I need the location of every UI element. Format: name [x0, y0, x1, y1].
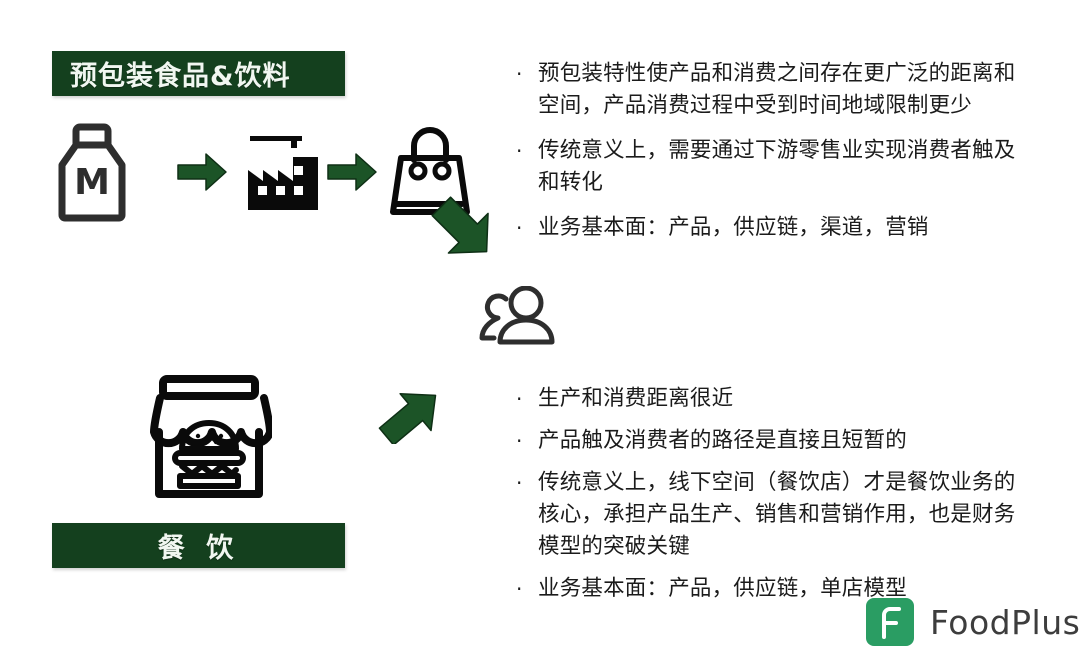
- bullet-dot: ·: [516, 467, 538, 499]
- bullet-text: 传统意义上，线下空间（餐饮店）才是餐饮业务的核心，承担产品生产、销售和营销作用，…: [538, 467, 1016, 563]
- foodplus-logo: FoodPlus: [866, 598, 1080, 646]
- slide-canvas: 预包装食品&饮料 M: [0, 0, 1080, 665]
- bullet-dot: ·: [516, 58, 538, 90]
- bullet-text: 预包装特性使产品和消费之间存在更广泛的距离和空间，产品消费过程中受到时间地域限制…: [538, 58, 1016, 122]
- list-item: · 预包装特性使产品和消费之间存在更广泛的距离和空间，产品消费过程中受到时间地域…: [516, 58, 1016, 122]
- list-item: · 业务基本面：产品，供应链，渠道，营销: [516, 212, 1016, 244]
- bullet-list-packaged: · 预包装特性使产品和消费之间存在更广泛的距离和空间，产品消费过程中受到时间地域…: [516, 58, 1016, 244]
- bullet-dot: ·: [516, 135, 538, 167]
- bullet-dot: ·: [516, 383, 538, 415]
- arrow-right-icon-2: [326, 152, 378, 192]
- list-item: · 生产和消费距离很近: [516, 383, 1016, 415]
- bullet-dot: ·: [516, 425, 538, 457]
- bullet-text: 传统意义上，需要通过下游零售业实现消费者触及和转化: [538, 135, 1016, 199]
- section-label-foodservice: 餐 饮: [52, 523, 345, 568]
- arrow-right-icon-1: [176, 152, 228, 192]
- bullet-dot: ·: [516, 212, 538, 244]
- section-label-packaged: 预包装食品&饮料: [52, 51, 345, 96]
- bullet-text: 生产和消费距离很近: [538, 383, 1016, 415]
- arrow-down-right-icon: [428, 196, 500, 262]
- svg-text:M: M: [74, 162, 110, 203]
- foodplus-logo-mark-icon: [866, 598, 914, 646]
- list-item: · 传统意义上，需要通过下游零售业实现消费者触及和转化: [516, 135, 1016, 199]
- list-item: · 传统意义上，线下空间（餐饮店）才是餐饮业务的核心，承担产品生产、销售和营销作…: [516, 467, 1016, 563]
- list-item: · 产品触及消费者的路径是直接且短暂的: [516, 425, 1016, 457]
- foodplus-wordmark: FoodPlus: [930, 606, 1080, 639]
- bullet-list-foodservice: · 生产和消费距离很近 · 产品触及消费者的路径是直接且短暂的 · 传统意义上，…: [516, 383, 1016, 605]
- bullet-text: 业务基本面：产品，供应链，渠道，营销: [538, 212, 1016, 244]
- section-label-packaged-text: 预包装食品&饮料: [70, 54, 291, 93]
- packaged-flow-row: M: [50, 122, 425, 222]
- restaurant-storefront-icon: [146, 374, 272, 502]
- factory-icon: [246, 122, 320, 222]
- milk-bottle-icon: M: [56, 122, 128, 222]
- consumers-users-icon: [473, 286, 561, 348]
- section-label-foodservice-text: 餐 饮: [158, 526, 239, 565]
- bullet-dot: ·: [516, 573, 538, 605]
- bullet-text: 产品触及消费者的路径是直接且短暂的: [538, 425, 1016, 457]
- arrow-up-right-icon: [375, 388, 447, 444]
